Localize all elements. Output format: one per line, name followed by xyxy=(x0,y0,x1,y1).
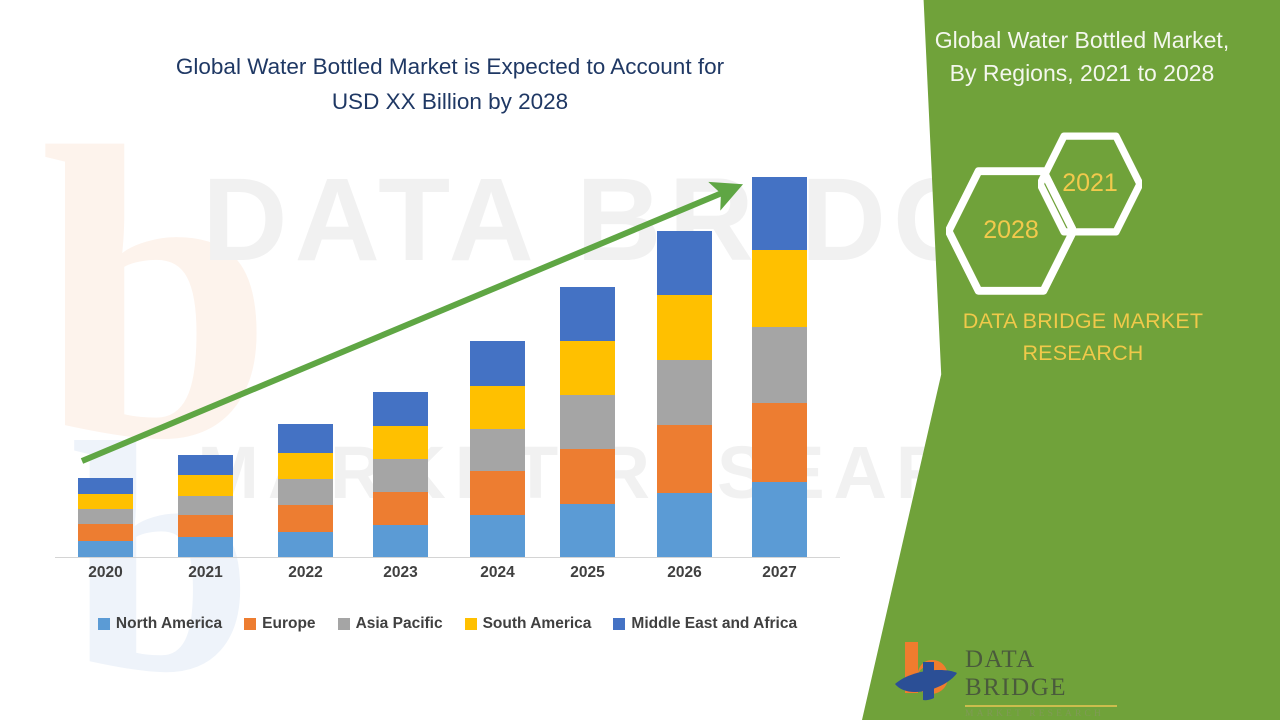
bar-2023[interactable] xyxy=(373,392,428,557)
bar-segment-asia-pacific[interactable] xyxy=(178,496,233,515)
logo-subtitle: MARKET RESEARCH xyxy=(965,709,1123,719)
legend-label: North America xyxy=(116,615,222,633)
bar-segment-south-america[interactable] xyxy=(278,453,333,480)
hexagon-2021-label: 2021 xyxy=(1062,169,1118,198)
bar-segment-europe[interactable] xyxy=(560,449,615,504)
bar-segment-south-america[interactable] xyxy=(178,475,233,495)
bar-segment-south-america[interactable] xyxy=(78,494,133,509)
logo-divider xyxy=(965,705,1117,707)
bar-2022[interactable] xyxy=(278,424,333,557)
x-axis-label-2024: 2024 xyxy=(470,564,525,582)
bar-segment-south-america[interactable] xyxy=(752,250,807,327)
panel-title: Global Water Bottled Market, By Regions,… xyxy=(840,24,1280,91)
bar-segment-north-america[interactable] xyxy=(178,537,233,557)
bar-2024[interactable] xyxy=(470,341,525,557)
bar-segment-middle-east-and-africa[interactable] xyxy=(78,478,133,493)
bar-segment-north-america[interactable] xyxy=(78,541,133,557)
chart-title-line-1: Global Water Bottled Market is Expected … xyxy=(100,50,800,85)
legend-item-europe[interactable]: Europe xyxy=(244,615,315,633)
logo-title: DATA BRIDGE xyxy=(965,646,1123,702)
brand-name-line-1: DATA BRIDGE MARKET xyxy=(886,305,1280,337)
bar-segment-middle-east-and-africa[interactable] xyxy=(278,424,333,453)
bar-segment-middle-east-and-africa[interactable] xyxy=(178,455,233,475)
legend-label: Asia Pacific xyxy=(356,615,443,633)
bar-segment-middle-east-and-africa[interactable] xyxy=(752,177,807,250)
data-bridge-logo: DATA BRIDGE MARKET RESEARCH xyxy=(893,638,1123,708)
bar-segment-south-america[interactable] xyxy=(373,426,428,459)
hexagon-year-2021: 2021 xyxy=(1038,132,1142,234)
bar-segment-middle-east-and-africa[interactable] xyxy=(470,341,525,386)
legend-swatch-icon xyxy=(244,618,256,630)
bar-2021[interactable] xyxy=(178,455,233,557)
bar-segment-europe[interactable] xyxy=(78,524,133,540)
legend-label: Europe xyxy=(262,615,315,633)
panel-title-line-2: By Regions, 2021 to 2028 xyxy=(884,57,1280,90)
chart-title-line-2: USD XX Billion by 2028 xyxy=(100,85,800,120)
legend-label: Middle East and Africa xyxy=(631,615,797,633)
chart-title: Global Water Bottled Market is Expected … xyxy=(100,50,800,120)
bar-segment-europe[interactable] xyxy=(752,403,807,482)
legend-item-south-america[interactable]: South America xyxy=(465,615,592,633)
chart-legend: North AmericaEuropeAsia PacificSouth Ame… xyxy=(55,615,840,633)
brand-name-line-2: RESEARCH xyxy=(886,337,1280,369)
bar-segment-north-america[interactable] xyxy=(278,532,333,558)
bar-segment-north-america[interactable] xyxy=(373,525,428,557)
hexagon-2028-label: 2028 xyxy=(983,216,1039,245)
bar-segment-europe[interactable] xyxy=(178,515,233,536)
bar-segment-europe[interactable] xyxy=(470,471,525,515)
x-axis-line xyxy=(55,557,840,558)
bar-segment-asia-pacific[interactable] xyxy=(560,395,615,449)
legend-swatch-icon xyxy=(338,618,350,630)
right-green-panel: Global Water Bottled Market, By Regions,… xyxy=(840,0,1280,720)
x-axis-label-2026: 2026 xyxy=(657,564,712,582)
legend-swatch-icon xyxy=(465,618,477,630)
bar-segment-middle-east-and-africa[interactable] xyxy=(373,392,428,427)
legend-item-asia-pacific[interactable]: Asia Pacific xyxy=(338,615,443,633)
bar-2026[interactable] xyxy=(657,231,712,557)
bar-segment-asia-pacific[interactable] xyxy=(373,459,428,492)
brand-name: DATA BRIDGE MARKET RESEARCH xyxy=(840,305,1280,370)
legend-item-north-america[interactable]: North America xyxy=(98,615,222,633)
bar-segment-asia-pacific[interactable] xyxy=(657,360,712,425)
bar-2027[interactable] xyxy=(752,177,807,557)
bar-2020[interactable] xyxy=(78,478,133,557)
x-axis-label-2025: 2025 xyxy=(560,564,615,582)
legend-swatch-icon xyxy=(98,618,110,630)
bar-segment-south-america[interactable] xyxy=(560,341,615,395)
bar-segment-north-america[interactable] xyxy=(752,482,807,557)
bar-segment-south-america[interactable] xyxy=(657,295,712,360)
bar-segment-asia-pacific[interactable] xyxy=(752,327,807,404)
bar-segment-asia-pacific[interactable] xyxy=(470,429,525,472)
chart-plot-area xyxy=(55,150,840,558)
bar-segment-south-america[interactable] xyxy=(470,386,525,429)
bar-segment-europe[interactable] xyxy=(657,425,712,492)
bar-segment-asia-pacific[interactable] xyxy=(78,509,133,524)
panel-title-line-1: Global Water Bottled Market, xyxy=(884,24,1280,57)
x-axis-label-2020: 2020 xyxy=(78,564,133,582)
legend-label: South America xyxy=(483,615,592,633)
legend-item-middle-east-and-africa[interactable]: Middle East and Africa xyxy=(613,615,797,633)
hexagon-group: 2028 2021 xyxy=(840,140,1280,300)
x-axis-label-2021: 2021 xyxy=(178,564,233,582)
bar-segment-north-america[interactable] xyxy=(657,493,712,557)
logo-text: DATA BRIDGE MARKET RESEARCH xyxy=(965,646,1123,719)
bar-segment-asia-pacific[interactable] xyxy=(278,479,333,505)
bar-segment-middle-east-and-africa[interactable] xyxy=(560,287,615,341)
bar-segment-europe[interactable] xyxy=(373,492,428,526)
x-axis-label-2022: 2022 xyxy=(278,564,333,582)
x-axis-labels: 20202021202220232024202520262027 xyxy=(55,564,840,594)
x-axis-label-2023: 2023 xyxy=(373,564,428,582)
bar-segment-north-america[interactable] xyxy=(560,504,615,557)
x-axis-label-2027: 2027 xyxy=(752,564,807,582)
bar-segment-europe[interactable] xyxy=(278,505,333,532)
legend-swatch-icon xyxy=(613,618,625,630)
bar-2025[interactable] xyxy=(560,287,615,557)
bar-segment-north-america[interactable] xyxy=(470,515,525,557)
logo-b-mark-icon xyxy=(893,638,963,706)
bar-segment-middle-east-and-africa[interactable] xyxy=(657,231,712,295)
